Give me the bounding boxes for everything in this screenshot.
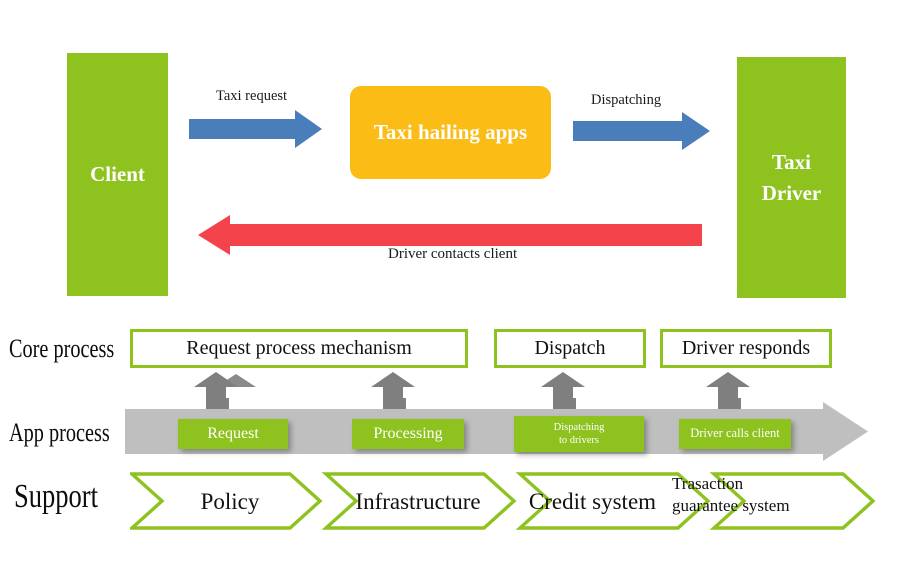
actor-client-label: Client (90, 159, 145, 189)
up-arrow-icon (371, 372, 415, 409)
app-process-chip-processing[interactable]: Processing (352, 419, 464, 449)
app-process-chip-label-line2: to drivers (554, 434, 605, 447)
app-to-core-up-arrows (125, 368, 875, 414)
app-process-chip-label: Request (207, 424, 259, 444)
taxi-request-arrow-label: Taxi request (216, 88, 287, 105)
row-label-support: Support (14, 478, 98, 516)
actor-driver-label-line1: Taxi (762, 147, 821, 177)
app-process-chip-request[interactable]: Request (178, 419, 288, 449)
actor-client[interactable]: Client (67, 53, 168, 296)
app-process-chip-label: Processing (373, 424, 442, 444)
support-chevron-label-credit-system: Credit system (505, 487, 680, 516)
app-process-chip-driver-calls-client[interactable]: Driver calls client (679, 419, 791, 449)
actor-taxi-hailing-apps[interactable]: Taxi hailing apps (350, 86, 551, 179)
support-chevron-label-infrastructure: Infrastructure (328, 487, 508, 516)
core-process-box-label: Dispatch (534, 337, 605, 360)
actor-taxi-driver[interactable]: Taxi Driver (737, 57, 846, 298)
support-chevron-label-policy: Policy (165, 487, 295, 516)
support-chevron-label-line2: guarantee system (672, 495, 847, 517)
support-chevron-label-trasaction-guarantee-system: Trasaction guarantee system (672, 473, 847, 517)
support-chevron-label-line1: Trasaction (672, 473, 847, 495)
app-process-chip-label-line1: Dispatching (554, 421, 605, 434)
dispatching-arrow (573, 112, 710, 150)
actor-apps-label: Taxi hailing apps (374, 120, 527, 145)
up-arrow-icon (706, 372, 750, 409)
dispatching-arrow-label: Dispatching (591, 92, 661, 109)
up-arrow-icon (541, 372, 585, 409)
row-label-app-process: App process (9, 418, 110, 448)
diagram-canvas: Client Taxi hailing apps Taxi Driver Tax… (0, 0, 900, 561)
core-process-box-dispatch[interactable]: Dispatch (494, 329, 646, 368)
taxi-request-arrow (189, 110, 322, 148)
driver-contacts-arrow-label: Driver contacts client (388, 246, 517, 263)
core-process-box-request-process-mechanism[interactable]: Request process mechanism (130, 329, 468, 368)
app-process-chip-label: Driver calls client (690, 426, 780, 442)
core-process-box-driver-responds[interactable]: Driver responds (660, 329, 832, 368)
app-process-chip-dispatching-to-drivers[interactable]: Dispatching to drivers (514, 416, 644, 452)
core-process-box-label: Driver responds (682, 337, 810, 360)
row-label-core-process: Core process (9, 334, 114, 364)
actor-driver-label-line2: Driver (762, 178, 821, 208)
core-process-box-label: Request process mechanism (186, 337, 412, 360)
